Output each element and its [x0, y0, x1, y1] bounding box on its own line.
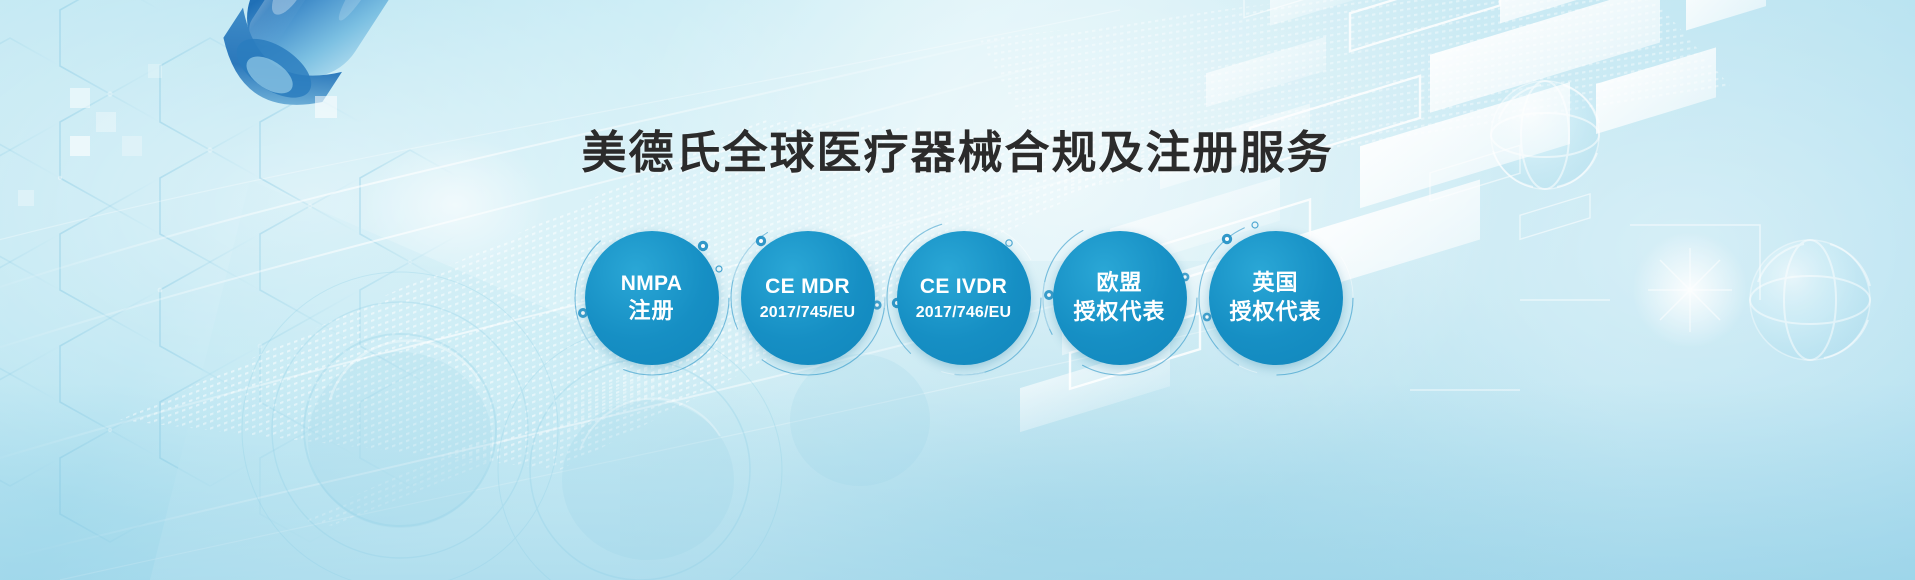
- background-bottom-fade: [0, 383, 1915, 580]
- badge-line1: CE MDR: [765, 274, 850, 300]
- badge-line2: 2017/745/EU: [760, 303, 856, 323]
- badge-line2: 授权代表: [1073, 299, 1165, 326]
- badge-line1: NMPA: [621, 271, 682, 297]
- badge-line1: CE IVDR: [920, 274, 1007, 300]
- badge-disc: 英国 授权代表: [1209, 231, 1343, 365]
- badge-nmpa[interactable]: NMPA 注册: [585, 231, 719, 365]
- hero-banner: 美德氏全球医疗器械合规及注册服务 NMPA 注册: [0, 0, 1915, 580]
- badge-disc: CE MDR 2017/745/EU: [741, 231, 875, 365]
- badge-disc: CE IVDR 2017/746/EU: [897, 231, 1031, 365]
- badge-disc: 欧盟 授权代表: [1053, 231, 1187, 365]
- badge-line1: 英国: [1252, 270, 1298, 297]
- badge-line2: 注册: [628, 298, 674, 325]
- badge-ce-ivdr[interactable]: CE IVDR 2017/746/EU: [897, 231, 1031, 365]
- badge-ce-mdr[interactable]: CE MDR 2017/745/EU: [741, 231, 875, 365]
- badge-disc: NMPA 注册: [585, 231, 719, 365]
- badge-line2: 2017/746/EU: [916, 303, 1012, 323]
- page-title: 美德氏全球医疗器械合规及注册服务: [0, 116, 1915, 181]
- badge-line1: 欧盟: [1096, 270, 1142, 297]
- badge-line2: 授权代表: [1229, 299, 1321, 326]
- service-badge-row: NMPA 注册 CE MDR 2017/745/EU: [0, 231, 1915, 365]
- badge-eu-authorized-representative[interactable]: 欧盟 授权代表: [1053, 231, 1187, 365]
- badge-uk-authorized-representative[interactable]: 英国 授权代表: [1209, 231, 1343, 365]
